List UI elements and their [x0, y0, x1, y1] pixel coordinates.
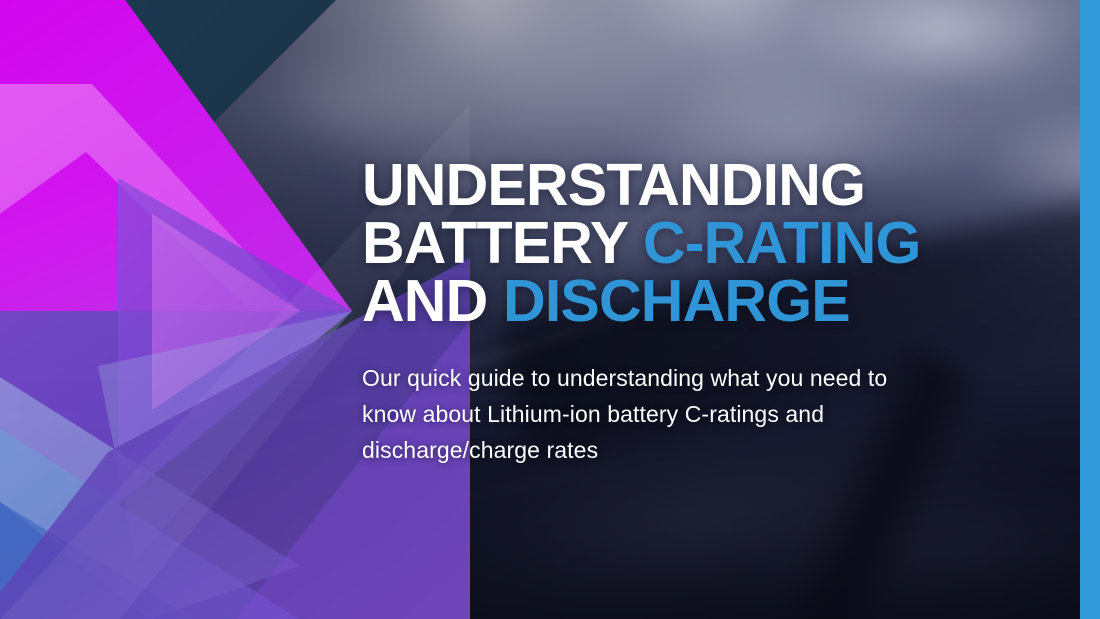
right-accent-bar — [1080, 0, 1100, 619]
headline-segment: BATTERY — [362, 210, 643, 276]
headline-line-3: AND DISCHARGE — [362, 272, 972, 330]
headline-segment-accent: C-RATING — [643, 210, 921, 276]
headline-line-2: BATTERY C-RATING — [362, 214, 972, 272]
headline-segment: AND — [362, 268, 503, 334]
slide-canvas: UNDERSTANDING BATTERY C-RATING AND DISCH… — [0, 0, 1100, 619]
headline-segment: UNDERSTANDING — [362, 152, 865, 218]
headline-line-1: UNDERSTANDING — [362, 156, 972, 214]
page-subtitle: Our quick guide to understanding what yo… — [362, 360, 937, 468]
title-block: UNDERSTANDING BATTERY C-RATING AND DISCH… — [362, 156, 972, 468]
headline-segment-accent: DISCHARGE — [503, 268, 850, 334]
page-title: UNDERSTANDING BATTERY C-RATING AND DISCH… — [362, 156, 972, 330]
